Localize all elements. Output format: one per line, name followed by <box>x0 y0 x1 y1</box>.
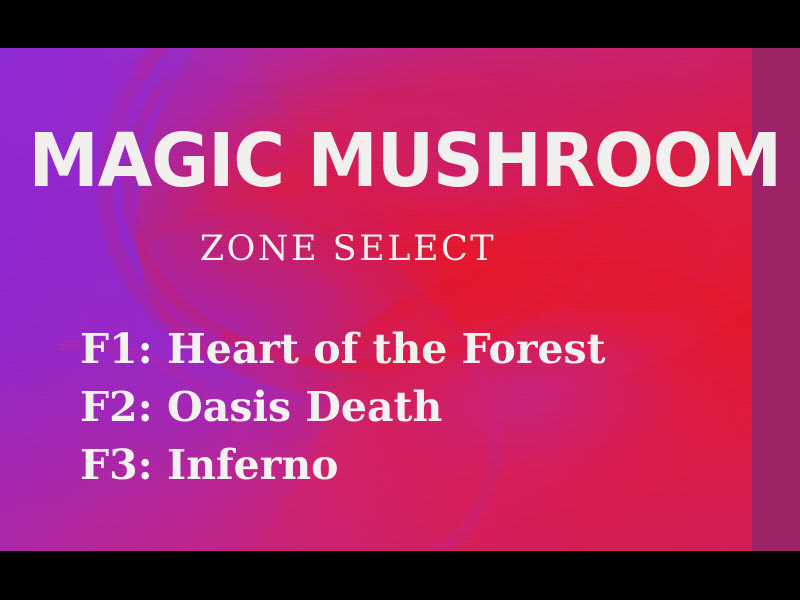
menu-item-f3[interactable]: F3: Inferno <box>80 436 720 494</box>
menu-item-f1[interactable]: F1: Heart of the Forest <box>80 320 720 378</box>
letterbox-bottom <box>0 551 800 600</box>
page-title: MAGIC MUSHROOM <box>20 124 790 198</box>
zone-menu: F1: Heart of the Forest F2: Oasis Death … <box>80 320 720 494</box>
game-screen: MAGIC MUSHROOM ZONE SELECT F1: Heart of … <box>0 0 800 600</box>
game-viewport: MAGIC MUSHROOM ZONE SELECT F1: Heart of … <box>0 48 800 551</box>
text-layer: MAGIC MUSHROOM ZONE SELECT F1: Heart of … <box>0 48 800 551</box>
letterbox-top <box>0 0 800 48</box>
zone-select-heading: ZONE SELECT <box>0 232 696 267</box>
menu-item-f2[interactable]: F2: Oasis Death <box>80 378 720 436</box>
